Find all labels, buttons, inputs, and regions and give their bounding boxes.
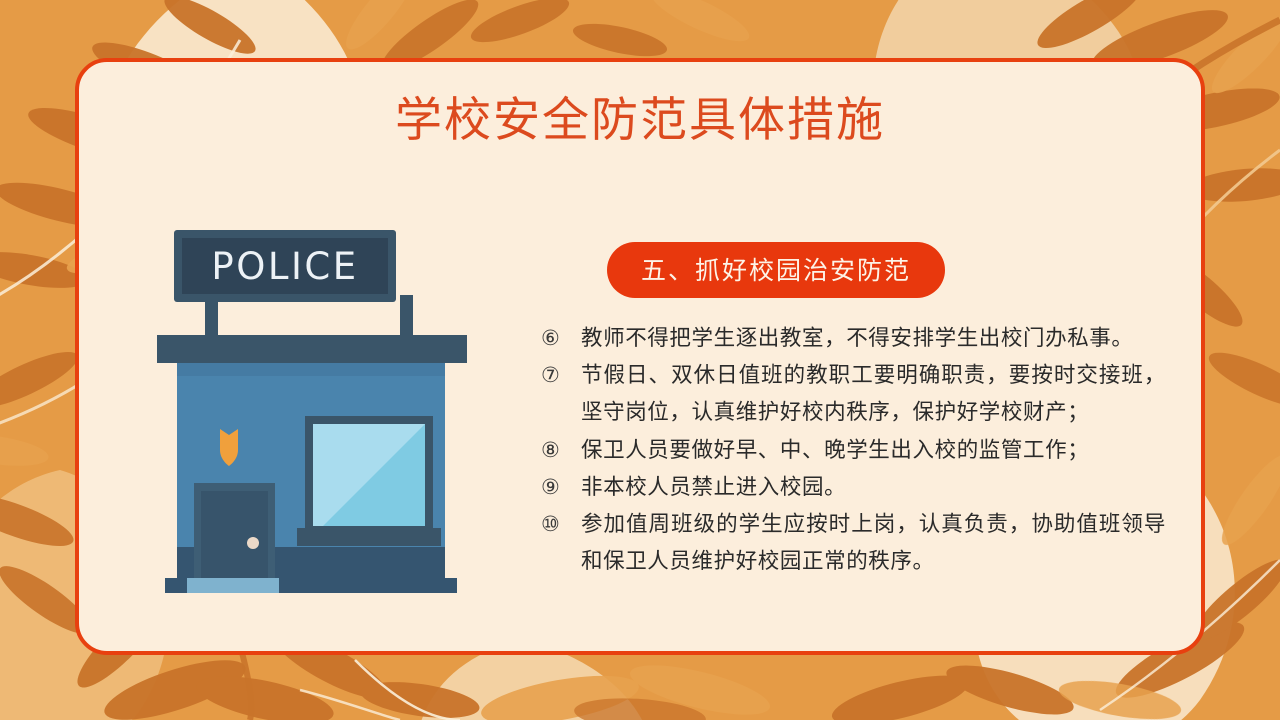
list-item: ⑦ 节假日、双休日值班的教职工要明确职责，要按时交接班，坚守岗位，认真维护好校内… — [541, 357, 1166, 431]
list-item-marker: ⑨ — [541, 469, 581, 505]
list-item-marker: ⑩ — [541, 506, 581, 542]
list-item-marker: ⑦ — [541, 357, 581, 393]
entrance-step — [187, 578, 279, 593]
list-item-marker: ⑧ — [541, 432, 581, 468]
list-item-text: 参加值周班级的学生应按时上岗，认真负责，协助值班领导和保卫人员维护好校园正常的秩… — [581, 506, 1166, 580]
section-badge: 五、抓好校园治安防范 — [607, 242, 945, 298]
list-item: ⑩ 参加值周班级的学生应按时上岗，认真负责，协助值班领导和保卫人员维护好校园正常… — [541, 506, 1166, 580]
list-item-text: 教师不得把学生逐出教室，不得安排学生出校门办私事。 — [581, 320, 1166, 357]
window-sill — [297, 528, 441, 546]
slide-root: 学校安全防范具体措施 POLICE — [0, 0, 1280, 720]
page-title: 学校安全防范具体措施 — [79, 96, 1201, 148]
section-content: 五、抓好校园治安防范 ⑥ 教师不得把学生逐出教室，不得安排学生出校门办私事。 ⑦… — [541, 242, 1166, 580]
police-sign-text: POLICE — [211, 245, 358, 288]
wall-top-shadow — [177, 363, 445, 376]
list-item-marker: ⑥ — [541, 320, 581, 356]
list-item-text: 保卫人员要做好早、中、晚学生出入校的监管工作； — [581, 432, 1166, 469]
list-item-text: 节假日、双休日值班的教职工要明确职责，要按时交接班，坚守岗位，认真维护好校内秩序… — [581, 357, 1166, 431]
list-item-text: 非本校人员禁止进入校园。 — [581, 469, 1166, 506]
list-item: ⑨ 非本校人员禁止进入校园。 — [541, 469, 1166, 506]
content-card: 学校安全防范具体措施 POLICE — [75, 58, 1205, 655]
police-station-illustration: POLICE — [157, 217, 552, 637]
list-item: ⑥ 教师不得把学生逐出教室，不得安排学生出校门办私事。 — [541, 320, 1166, 357]
list-item: ⑧ 保卫人员要做好早、中、晚学生出入校的监管工作； — [541, 432, 1166, 469]
measures-list: ⑥ 教师不得把学生逐出教室，不得安排学生出校门办私事。 ⑦ 节假日、双休日值班的… — [541, 320, 1166, 580]
roof-slab — [157, 335, 467, 363]
